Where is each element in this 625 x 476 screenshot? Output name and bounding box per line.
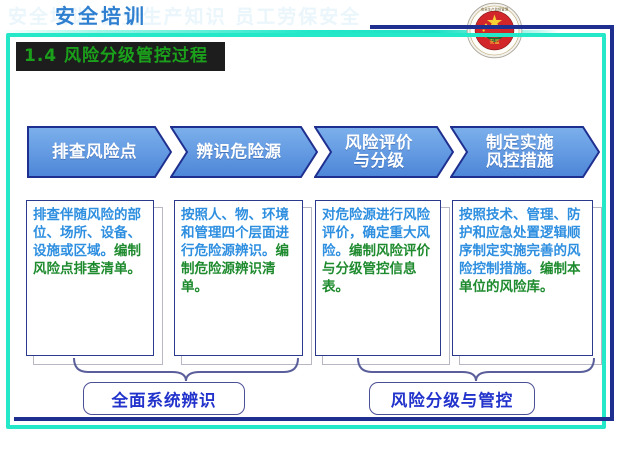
detail-box-1[interactable]: 排查伴随风险的部位、场所、设备、设施或区域。编制风险点排查清单。	[26, 200, 154, 356]
group-label-right-text: 风险分级与管控	[391, 387, 514, 411]
section-title-bar: 1.4 风险分级管控过程	[16, 42, 225, 71]
outer-frame-navy-right	[610, 25, 614, 421]
group-label-left-text: 全面系统辨识	[112, 387, 217, 411]
group-label-right[interactable]: 风险分级与管控	[369, 382, 535, 415]
process-step-1[interactable]: 排查风险点	[27, 126, 172, 178]
group-label-left[interactable]: 全面系统辨识	[83, 382, 245, 415]
section-title-text: 1.4 风险分级管控过程	[24, 42, 208, 71]
process-step-4-label: 制定实施 风控措施	[486, 134, 564, 171]
process-step-3-line-1: 风险评价	[345, 133, 413, 152]
process-step-1-label: 排查风险点	[52, 143, 147, 161]
slide-root: 安全培训 安全生产知识 员工劳保安全 安全培训 安监 安全生产监督管理 1.4 …	[0, 0, 625, 476]
process-step-3-line-2: 与分级	[354, 151, 405, 170]
process-step-4-line-1: 制定实施	[486, 133, 554, 152]
process-step-4[interactable]: 制定实施 风控措施	[450, 126, 600, 178]
detail-box-2[interactable]: 按照人、物、环境和管理四个层面进行危险源辨识。编制危险源辨识清单。	[174, 200, 303, 356]
outer-frame-navy-bottom	[14, 417, 614, 421]
group-right-brace-icon	[356, 356, 596, 382]
footer: 山东省安全生产监督管理局 wwwsafehooc o m	[0, 433, 625, 476]
detail-2-description: 按照人、物、环境和管理四个层面进行危险源辨识。	[181, 207, 289, 259]
group-left-brace-icon	[72, 356, 300, 382]
outer-frame-navy-top	[370, 25, 614, 29]
process-step-2[interactable]: 辨识危险源	[170, 126, 318, 178]
process-step-2-label: 辨识危险源	[197, 143, 292, 161]
process-step-4-line-2: 风控措施	[486, 151, 554, 170]
process-step-3[interactable]: 风险评价 与分级	[314, 126, 454, 178]
process-step-3-label: 风险评价 与分级	[345, 134, 423, 171]
detail-box-3[interactable]: 对危险源进行风险评价，确定重大风险。编制风险评价与分级管控信息表。	[315, 200, 441, 356]
svg-text:安全生产监督管理: 安全生产监督管理	[481, 7, 509, 12]
banner-title: 安全培训	[55, 1, 147, 31]
detail-box-4[interactable]: 按照技术、管理、防护和应急处置逻辑顺序制定实施完善的风险控制措施。编制本单位的风…	[452, 200, 593, 356]
